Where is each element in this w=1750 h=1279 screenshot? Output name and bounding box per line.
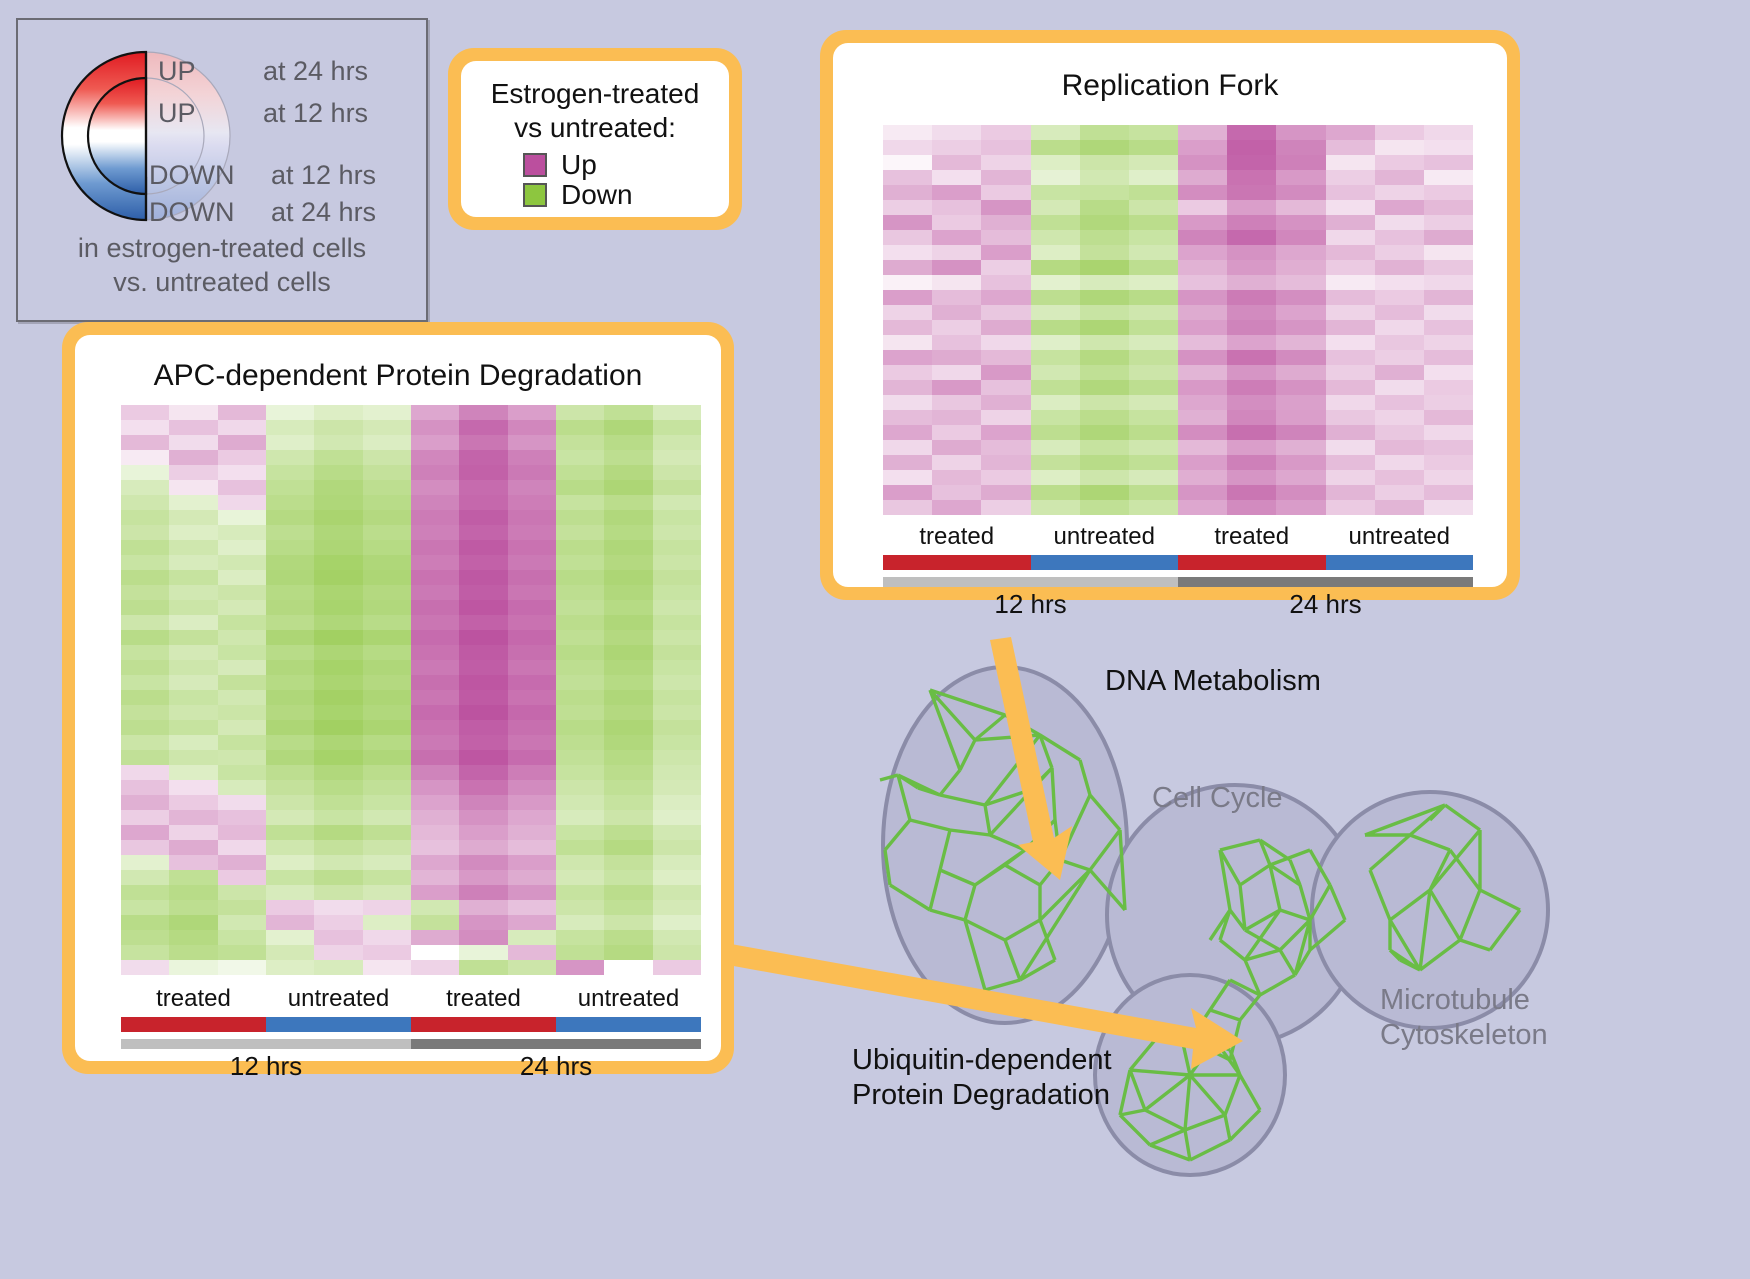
up-down-key-title: Estrogen-treated vs untreated: bbox=[461, 77, 729, 145]
heatmap-cell bbox=[1080, 230, 1129, 245]
heatmap-cell bbox=[883, 425, 932, 440]
heatmap-cell bbox=[459, 825, 507, 840]
heatmap-cell bbox=[556, 780, 604, 795]
heatmap-cell bbox=[169, 645, 217, 660]
heatmap-cell bbox=[653, 675, 701, 690]
down-swatch-icon bbox=[523, 183, 547, 207]
heatmap-cell bbox=[604, 945, 652, 960]
heatmap-cell bbox=[604, 705, 652, 720]
heatmap-cell bbox=[459, 690, 507, 705]
heatmap-cell bbox=[883, 380, 932, 395]
heatmap-cell bbox=[1227, 410, 1276, 425]
heatmap-cell bbox=[411, 735, 459, 750]
heatmap-cell bbox=[932, 155, 981, 170]
heatmap-cell bbox=[1375, 305, 1424, 320]
heatmap-cell bbox=[1326, 350, 1375, 365]
heatmap-cell bbox=[459, 885, 507, 900]
heatmap-cell bbox=[981, 425, 1030, 440]
heatmap-cell bbox=[1031, 200, 1080, 215]
heatmap-cell bbox=[1326, 500, 1375, 515]
heatmap-cell bbox=[653, 900, 701, 915]
heatmap-cell bbox=[508, 675, 556, 690]
heatmap-cell bbox=[411, 885, 459, 900]
replication-fork-panel-inner: Replication Fork treated untreated treat… bbox=[833, 43, 1507, 587]
heatmap-cell bbox=[459, 570, 507, 585]
legend-time-up-24: at 24 hrs bbox=[263, 56, 368, 87]
heatmap-grid bbox=[121, 405, 701, 975]
heatmap-cell bbox=[1129, 170, 1178, 185]
heatmap-cell bbox=[604, 720, 652, 735]
heatmap-cell bbox=[932, 125, 981, 140]
heatmap-cell bbox=[1178, 500, 1227, 515]
heatmap-cell bbox=[1424, 245, 1473, 260]
heatmap-cell bbox=[1031, 395, 1080, 410]
heatmap-cell bbox=[1276, 485, 1325, 500]
heatmap-cell bbox=[1276, 335, 1325, 350]
heatmap-cell bbox=[411, 780, 459, 795]
heatmap-cell bbox=[411, 630, 459, 645]
heatmap-cell bbox=[556, 450, 604, 465]
heatmap-cell bbox=[1424, 425, 1473, 440]
heatmap-cell bbox=[1031, 365, 1080, 380]
heatmap-cell bbox=[556, 855, 604, 870]
heatmap-cell bbox=[981, 290, 1030, 305]
heatmap-cell bbox=[411, 540, 459, 555]
heatmap-cell bbox=[266, 570, 314, 585]
heatmap-cell bbox=[604, 660, 652, 675]
heatmap-cell bbox=[169, 900, 217, 915]
heatmap-cell bbox=[1375, 470, 1424, 485]
heatmap-cell bbox=[169, 750, 217, 765]
heatmap-cell bbox=[411, 585, 459, 600]
heatmap-cell bbox=[556, 555, 604, 570]
heatmap-cell bbox=[1276, 125, 1325, 140]
heatmap-cell bbox=[981, 185, 1030, 200]
heatmap-cell bbox=[556, 660, 604, 675]
heatmap-cell bbox=[314, 825, 362, 840]
condition-bar-treated-24 bbox=[1178, 555, 1326, 570]
heatmap-cell bbox=[604, 915, 652, 930]
heatmap-cell bbox=[459, 795, 507, 810]
replication-fork-timepoint-labels: 12 hrs 24 hrs bbox=[883, 589, 1473, 620]
heatmap-cell bbox=[653, 465, 701, 480]
heatmap-cell bbox=[653, 660, 701, 675]
heatmap-cell bbox=[121, 420, 169, 435]
heatmap-cell bbox=[363, 405, 411, 420]
up-down-key-panel-inner: Estrogen-treated vs untreated: Up Down bbox=[461, 61, 729, 217]
heatmap-cell bbox=[1178, 440, 1227, 455]
heatmap-cell bbox=[1375, 395, 1424, 410]
heatmap-cell bbox=[266, 885, 314, 900]
heatmap-cell bbox=[1129, 425, 1178, 440]
replication-fork-timepoint-bar bbox=[883, 577, 1473, 587]
heatmap-cell bbox=[411, 945, 459, 960]
heatmap-cell bbox=[1227, 155, 1276, 170]
heatmap-cell bbox=[1227, 320, 1276, 335]
heatmap-cell bbox=[1178, 305, 1227, 320]
replication-fork-condition-bar bbox=[883, 555, 1473, 570]
heatmap-cell bbox=[266, 480, 314, 495]
heatmap-cell bbox=[1178, 335, 1227, 350]
heatmap-cell bbox=[1424, 215, 1473, 230]
heatmap-cell bbox=[121, 960, 169, 975]
heatmap-cell bbox=[932, 320, 981, 335]
heatmap-cell bbox=[1129, 410, 1178, 425]
heatmap-cell bbox=[1129, 290, 1178, 305]
heatmap-cell bbox=[1129, 485, 1178, 500]
timepoint-label-12hrs: 12 hrs bbox=[883, 589, 1178, 620]
heatmap-cell bbox=[1227, 350, 1276, 365]
timepoint-bar-12hrs bbox=[121, 1039, 411, 1049]
heatmap-cell bbox=[459, 540, 507, 555]
heatmap-cell bbox=[981, 455, 1030, 470]
heatmap-cell bbox=[169, 510, 217, 525]
heatmap-cell bbox=[363, 585, 411, 600]
heatmap-cell bbox=[556, 885, 604, 900]
heatmap-cell bbox=[932, 215, 981, 230]
heatmap-cell bbox=[981, 395, 1030, 410]
heatmap-cell bbox=[604, 480, 652, 495]
heatmap-cell bbox=[218, 495, 266, 510]
heatmap-cell bbox=[1031, 440, 1080, 455]
condition-label: treated bbox=[1178, 523, 1326, 551]
heatmap-cell bbox=[1178, 275, 1227, 290]
cluster-label-cell-cycle: Cell Cycle bbox=[1152, 782, 1283, 815]
heatmap-cell bbox=[363, 615, 411, 630]
heatmap-cell bbox=[604, 930, 652, 945]
heatmap-cell bbox=[508, 720, 556, 735]
heatmap-cell bbox=[169, 915, 217, 930]
apc-condition-labels: treated untreated treated untreated bbox=[121, 985, 701, 1013]
heatmap-cell bbox=[653, 840, 701, 855]
heatmap-cell bbox=[1129, 320, 1178, 335]
heatmap-cell bbox=[1424, 320, 1473, 335]
heatmap-cell bbox=[411, 645, 459, 660]
legend-time-up-12: at 12 hrs bbox=[263, 98, 368, 129]
heatmap-cell bbox=[1080, 185, 1129, 200]
heatmap-cell bbox=[1276, 440, 1325, 455]
heatmap-cell bbox=[1424, 455, 1473, 470]
heatmap-cell bbox=[1178, 185, 1227, 200]
heatmap-cell bbox=[459, 615, 507, 630]
heatmap-cell bbox=[653, 405, 701, 420]
heatmap-cell bbox=[1326, 380, 1375, 395]
heatmap-cell bbox=[314, 840, 362, 855]
heatmap-cell bbox=[1227, 290, 1276, 305]
heatmap-cell bbox=[1375, 260, 1424, 275]
heatmap-cell bbox=[266, 495, 314, 510]
condition-bar-untreated-24 bbox=[1326, 555, 1474, 570]
heatmap-cell bbox=[121, 645, 169, 660]
heatmap-cell bbox=[883, 500, 932, 515]
heatmap-cell bbox=[266, 675, 314, 690]
heatmap-cell bbox=[653, 540, 701, 555]
heatmap-cell bbox=[121, 690, 169, 705]
heatmap-cell bbox=[883, 230, 932, 245]
heatmap-cell bbox=[314, 810, 362, 825]
heatmap-cell bbox=[218, 795, 266, 810]
heatmap-cell bbox=[604, 870, 652, 885]
heatmap-cell bbox=[1276, 170, 1325, 185]
heatmap-cell bbox=[169, 495, 217, 510]
heatmap-cell bbox=[508, 705, 556, 720]
heatmap-cell bbox=[169, 585, 217, 600]
heatmap-cell bbox=[932, 395, 981, 410]
apc-degradation-panel: APC-dependent Protein Degradation treate… bbox=[62, 322, 734, 1074]
heatmap-cell bbox=[508, 945, 556, 960]
legend-key-down-24: DOWN bbox=[149, 197, 234, 228]
heatmap-cell bbox=[1080, 455, 1129, 470]
heatmap-cell bbox=[169, 705, 217, 720]
heatmap-cell bbox=[1178, 140, 1227, 155]
heatmap-cell bbox=[411, 915, 459, 930]
heatmap-cell bbox=[508, 555, 556, 570]
heatmap-cell bbox=[411, 510, 459, 525]
heatmap-cell bbox=[121, 930, 169, 945]
heatmap-cell bbox=[266, 825, 314, 840]
heatmap-cell bbox=[556, 960, 604, 975]
heatmap-cell bbox=[1276, 230, 1325, 245]
heatmap-cell bbox=[169, 465, 217, 480]
heatmap-cell bbox=[121, 885, 169, 900]
heatmap-cell bbox=[1326, 275, 1375, 290]
heatmap-cell bbox=[1080, 215, 1129, 230]
heatmap-cell bbox=[1424, 200, 1473, 215]
heatmap-cell bbox=[459, 900, 507, 915]
heatmap-cell bbox=[218, 945, 266, 960]
legend-key-up-12: UP bbox=[158, 98, 196, 129]
heatmap-cell bbox=[459, 630, 507, 645]
heatmap-cell bbox=[1276, 200, 1325, 215]
heatmap-cell bbox=[1031, 500, 1080, 515]
heatmap-cell bbox=[653, 525, 701, 540]
heatmap-cell bbox=[508, 915, 556, 930]
heatmap-cell bbox=[508, 825, 556, 840]
heatmap-cell bbox=[653, 765, 701, 780]
heatmap-cell bbox=[266, 735, 314, 750]
heatmap-cell bbox=[1375, 200, 1424, 215]
heatmap-cell bbox=[363, 735, 411, 750]
heatmap-cell bbox=[121, 600, 169, 615]
heatmap-cell bbox=[981, 155, 1030, 170]
heatmap-cell bbox=[604, 420, 652, 435]
heatmap-cell bbox=[459, 840, 507, 855]
heatmap-cell bbox=[459, 435, 507, 450]
heatmap-cell bbox=[314, 465, 362, 480]
heatmap-cell bbox=[363, 810, 411, 825]
heatmap-cell bbox=[459, 405, 507, 420]
heatmap-cell bbox=[508, 735, 556, 750]
heatmap-cell bbox=[169, 630, 217, 645]
heatmap-cell bbox=[411, 420, 459, 435]
heatmap-cell bbox=[932, 245, 981, 260]
heatmap-cell bbox=[314, 960, 362, 975]
apc-degradation-panel-inner: APC-dependent Protein Degradation treate… bbox=[75, 335, 721, 1061]
key-row-up: Up bbox=[523, 151, 729, 179]
heatmap-cell bbox=[363, 510, 411, 525]
heatmap-cell bbox=[218, 960, 266, 975]
heatmap-cell bbox=[1375, 275, 1424, 290]
heatmap-cell bbox=[508, 660, 556, 675]
heatmap-cell bbox=[556, 915, 604, 930]
heatmap-cell bbox=[1326, 335, 1375, 350]
heatmap-cell bbox=[363, 780, 411, 795]
heatmap-cell bbox=[604, 765, 652, 780]
heatmap-cell bbox=[1129, 140, 1178, 155]
heatmap-cell bbox=[1276, 500, 1325, 515]
heatmap-cell bbox=[314, 735, 362, 750]
up-down-key-panel: Estrogen-treated vs untreated: Up Down bbox=[448, 48, 742, 230]
heatmap-cell bbox=[218, 660, 266, 675]
heatmap-cell bbox=[1031, 140, 1080, 155]
heatmap-cell bbox=[1227, 125, 1276, 140]
heatmap-cell bbox=[363, 855, 411, 870]
heatmap-cell bbox=[1178, 350, 1227, 365]
heatmap-cell bbox=[218, 465, 266, 480]
heatmap-cell bbox=[604, 735, 652, 750]
heatmap-cell bbox=[1031, 380, 1080, 395]
heatmap-cell bbox=[1031, 290, 1080, 305]
heatmap-cell bbox=[314, 540, 362, 555]
heatmap-cell bbox=[266, 945, 314, 960]
heatmap-cell bbox=[1031, 305, 1080, 320]
heatmap-cell bbox=[218, 525, 266, 540]
heatmap-cell bbox=[411, 480, 459, 495]
heatmap-cell bbox=[266, 870, 314, 885]
heatmap-cell bbox=[266, 960, 314, 975]
heatmap-cell bbox=[508, 930, 556, 945]
heatmap-cell bbox=[121, 630, 169, 645]
heatmap-cell bbox=[556, 480, 604, 495]
heatmap-cell bbox=[981, 140, 1030, 155]
up-swatch-icon bbox=[523, 153, 547, 177]
heatmap-cell bbox=[604, 960, 652, 975]
heatmap-cell bbox=[169, 405, 217, 420]
heatmap-cell bbox=[169, 765, 217, 780]
condition-label: untreated bbox=[266, 985, 411, 1013]
heatmap-cell bbox=[981, 260, 1030, 275]
heatmap-cell bbox=[1080, 485, 1129, 500]
heatmap-cell bbox=[411, 870, 459, 885]
heatmap-cell bbox=[1178, 260, 1227, 275]
heatmap-cell bbox=[1129, 125, 1178, 140]
heatmap-cell bbox=[508, 810, 556, 825]
heatmap-cell bbox=[411, 930, 459, 945]
heatmap-cell bbox=[1375, 140, 1424, 155]
heatmap-cell bbox=[653, 615, 701, 630]
heatmap-cell bbox=[218, 570, 266, 585]
heatmap-cell bbox=[1326, 200, 1375, 215]
heatmap-cell bbox=[218, 855, 266, 870]
heatmap-cell bbox=[363, 900, 411, 915]
heatmap-cell bbox=[363, 870, 411, 885]
heatmap-cell bbox=[604, 810, 652, 825]
heatmap-cell bbox=[1276, 245, 1325, 260]
heatmap-cell bbox=[508, 630, 556, 645]
heatmap-cell bbox=[218, 930, 266, 945]
heatmap-cell bbox=[1276, 215, 1325, 230]
condition-label: treated bbox=[411, 985, 556, 1013]
condition-label: untreated bbox=[1031, 523, 1179, 551]
heatmap-cell bbox=[1129, 260, 1178, 275]
heatmap-cell bbox=[653, 870, 701, 885]
heatmap-cell bbox=[459, 735, 507, 750]
heatmap-cell bbox=[653, 915, 701, 930]
key-row-down: Down bbox=[523, 181, 729, 209]
heatmap-cell bbox=[1375, 245, 1424, 260]
heatmap-cell bbox=[169, 825, 217, 840]
heatmap-cell bbox=[604, 555, 652, 570]
heatmap-cell bbox=[314, 750, 362, 765]
heatmap-cell bbox=[1375, 500, 1424, 515]
heatmap-cell bbox=[883, 185, 932, 200]
heatmap-cell bbox=[556, 945, 604, 960]
heatmap-cell bbox=[363, 675, 411, 690]
heatmap-cell bbox=[169, 450, 217, 465]
heatmap-cell bbox=[883, 155, 932, 170]
heatmap-cell bbox=[314, 705, 362, 720]
heatmap-cell bbox=[169, 885, 217, 900]
heatmap-cell bbox=[1080, 170, 1129, 185]
heatmap-cell bbox=[556, 735, 604, 750]
heatmap-cell bbox=[1326, 155, 1375, 170]
heatmap-cell bbox=[459, 450, 507, 465]
legend-time-down-12: at 12 hrs bbox=[271, 160, 376, 191]
heatmap-cell bbox=[169, 795, 217, 810]
heatmap-cell bbox=[883, 440, 932, 455]
heatmap-cell bbox=[459, 750, 507, 765]
heatmap-cell bbox=[883, 290, 932, 305]
heatmap-cell bbox=[932, 290, 981, 305]
heatmap-cell bbox=[459, 495, 507, 510]
heatmap-cell bbox=[508, 465, 556, 480]
timepoint-label-24hrs: 24 hrs bbox=[1178, 589, 1473, 620]
heatmap-cell bbox=[266, 600, 314, 615]
heatmap-cell bbox=[314, 645, 362, 660]
heatmap-cell bbox=[556, 900, 604, 915]
cluster-label-dna-metabolism: DNA Metabolism bbox=[1105, 665, 1321, 698]
heatmap-cell bbox=[1031, 185, 1080, 200]
heatmap-cell bbox=[932, 455, 981, 470]
heatmap-cell bbox=[604, 855, 652, 870]
heatmap-cell bbox=[1080, 500, 1129, 515]
condition-bar-untreated-12 bbox=[1031, 555, 1179, 570]
heatmap-cell bbox=[604, 525, 652, 540]
heatmap-cell bbox=[266, 435, 314, 450]
heatmap-cell bbox=[1326, 305, 1375, 320]
heatmap-cell bbox=[653, 480, 701, 495]
heatmap-cell bbox=[266, 630, 314, 645]
heatmap-cell bbox=[266, 855, 314, 870]
heatmap-cell bbox=[459, 915, 507, 930]
heatmap-cell bbox=[508, 870, 556, 885]
heatmap-cell bbox=[1080, 395, 1129, 410]
heatmap-cell bbox=[314, 615, 362, 630]
heatmap-cell bbox=[653, 780, 701, 795]
heatmap-cell bbox=[1375, 440, 1424, 455]
heatmap-cell bbox=[1227, 215, 1276, 230]
heatmap-cell bbox=[981, 500, 1030, 515]
pathway-network-diagram bbox=[790, 620, 1750, 1279]
heatmap-cell bbox=[411, 825, 459, 840]
heatmap-cell bbox=[1080, 335, 1129, 350]
timepoint-label-24hrs: 24 hrs bbox=[411, 1051, 701, 1082]
heatmap-cell bbox=[556, 525, 604, 540]
heatmap-cell bbox=[363, 885, 411, 900]
heatmap-cell bbox=[169, 480, 217, 495]
heatmap-cell bbox=[314, 600, 362, 615]
heatmap-cell bbox=[363, 570, 411, 585]
